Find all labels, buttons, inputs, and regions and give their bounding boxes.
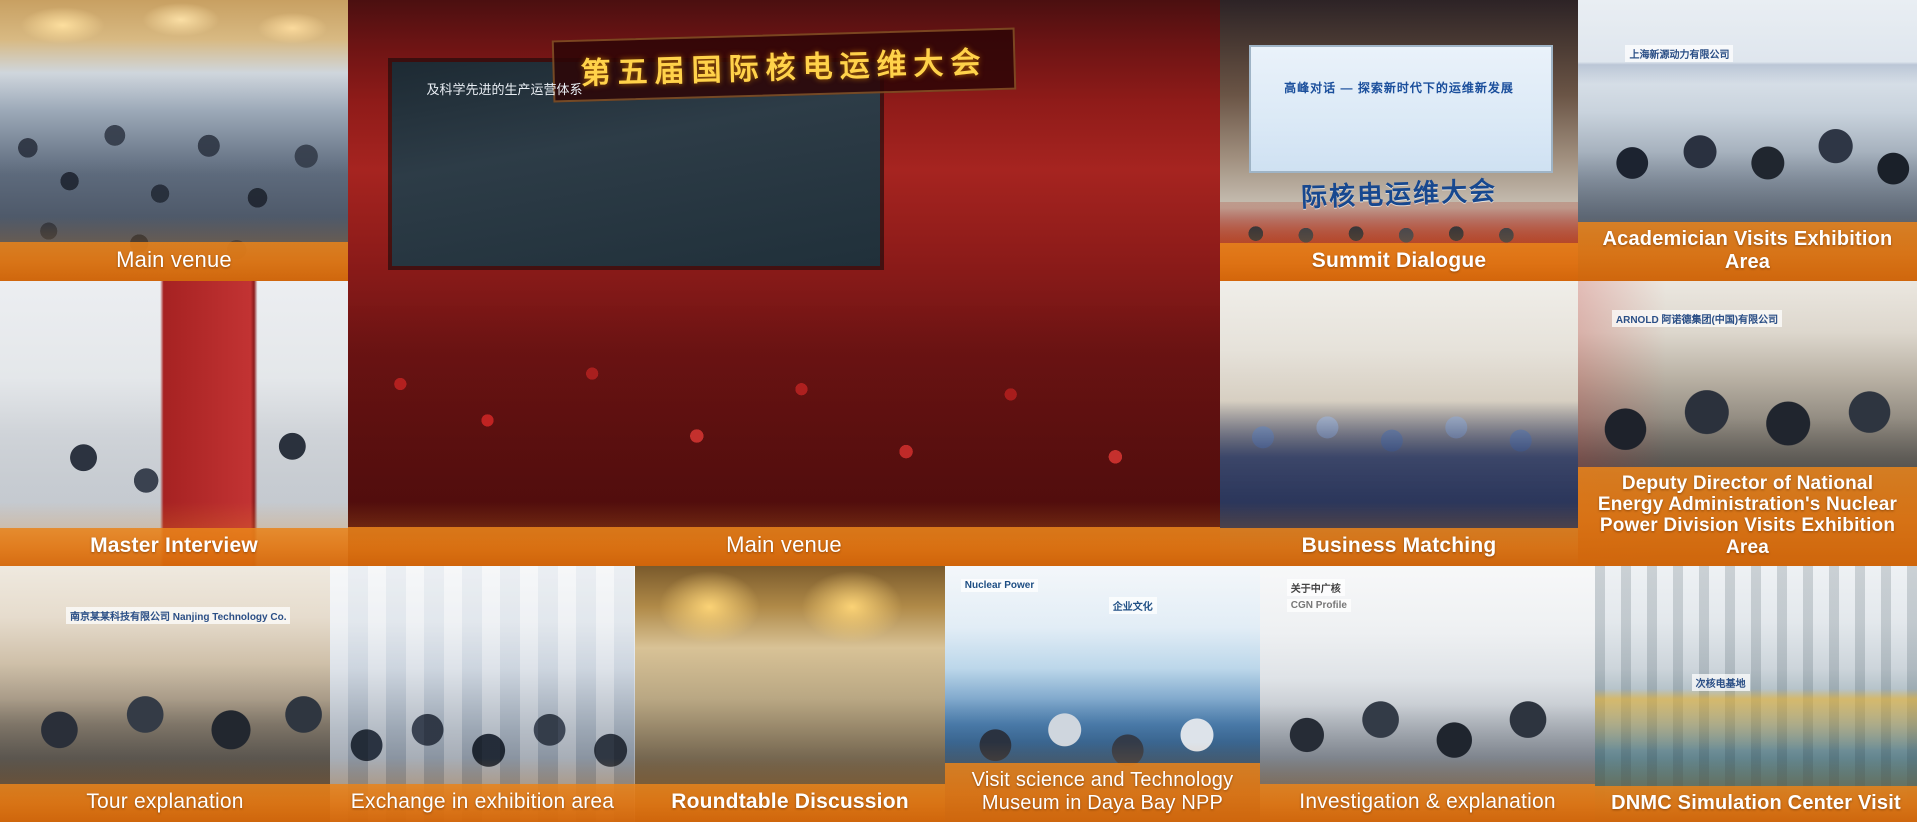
caption-academician-visits: Academician Visits Exhibition Area bbox=[1578, 222, 1917, 281]
slide-heading-text: 及科学先进的生产运营体系 bbox=[426, 79, 845, 101]
caption-tour-explanation: Tour explanation bbox=[0, 784, 330, 822]
caption-roundtable-discussion: Roundtable Discussion bbox=[635, 784, 945, 822]
caption-deputy-director-visits: Deputy Director of National Energy Admin… bbox=[1578, 467, 1917, 566]
caption-visit-science-museum: Visit science and Technology Museum in D… bbox=[945, 763, 1260, 822]
tile-visit-science-and-technology-museum[interactable]: Nuclear Power 企业文化 Visit science and Tec… bbox=[945, 566, 1260, 822]
tile-master-interview[interactable]: Master Interview bbox=[0, 281, 348, 566]
booth-sign-text: 南京某某科技有限公司 Nanjing Technology Co. bbox=[66, 607, 290, 624]
tile-deputy-director-visits[interactable]: ARNOLD 阿诺德集团(中国)有限公司 Deputy Director of … bbox=[1578, 281, 1917, 566]
caption-investigation-and-explanation: Investigation & explanation bbox=[1260, 784, 1595, 822]
tile-dnmc-simulation-center-visit[interactable]: 次核电基地 DNMC Simulation Center Visit bbox=[1595, 566, 1917, 822]
tile-roundtable-discussion[interactable]: Roundtable Discussion bbox=[635, 566, 945, 822]
panel-title-text: Nuclear Power bbox=[961, 579, 1038, 592]
caption-exchange-in-exhibition-area: Exchange in exhibition area bbox=[330, 784, 635, 822]
caption-dnmc-simulation-center: DNMC Simulation Center Visit bbox=[1595, 786, 1917, 822]
caption-business-matching: Business Matching bbox=[1220, 528, 1578, 566]
photo-business-matching bbox=[1220, 281, 1578, 566]
caption-main-venue-center: Main venue bbox=[348, 527, 1220, 566]
booth-sign-text: 上海新源动力有限公司 bbox=[1625, 45, 1733, 62]
summit-screen-title: 高峰对话 — 探索新时代下的运维新发展 bbox=[1284, 79, 1514, 96]
caption-master-interview: Master Interview bbox=[0, 528, 348, 566]
wall-sign-text: 次核电基地 bbox=[1692, 674, 1750, 691]
photo-summit-dialogue bbox=[1220, 0, 1578, 281]
panel-subtitle-text: 企业文化 bbox=[1109, 597, 1157, 614]
tile-business-matching[interactable]: Business Matching bbox=[1220, 281, 1578, 566]
tile-main-venue-top-left[interactable]: Main venue bbox=[0, 0, 348, 281]
tile-tour-explanation[interactable]: 南京某某科技有限公司 Nanjing Technology Co. Tour e… bbox=[0, 566, 330, 822]
photo-master-interview bbox=[0, 281, 348, 566]
photo-collage: Main venue 第五届国际核电运维大会 及科学先进的生产运营体系 Main… bbox=[0, 0, 1917, 822]
tile-summit-dialogue[interactable]: 高峰对话 — 探索新时代下的运维新发展 际核电运维大会 Summit Dialo… bbox=[1220, 0, 1578, 281]
photo-dnmc-simulation-center bbox=[1595, 566, 1917, 822]
booth-sign-text: ARNOLD 阿诺德集团(中国)有限公司 bbox=[1612, 310, 1782, 327]
tile-academician-visits-exhibition-area[interactable]: 上海新源动力有限公司 Academician Visits Exhibition… bbox=[1578, 0, 1917, 281]
caption-summit-dialogue: Summit Dialogue bbox=[1220, 243, 1578, 281]
panel-subtitle-text: CGN Profile bbox=[1287, 599, 1351, 612]
panel-title-text: 关于中广核 bbox=[1287, 579, 1345, 596]
tile-exchange-in-exhibition-area[interactable]: Exchange in exhibition area bbox=[330, 566, 635, 822]
photo-main-venue-top-left bbox=[0, 0, 348, 281]
tile-main-venue-center[interactable]: 第五届国际核电运维大会 及科学先进的生产运营体系 Main venue bbox=[348, 0, 1220, 566]
tile-investigation-and-explanation[interactable]: 关于中广核 CGN Profile Investigation & explan… bbox=[1260, 566, 1595, 822]
caption-main-venue-top-left: Main venue bbox=[0, 242, 348, 281]
stage-banner-text: 际核电运维大会 bbox=[1300, 171, 1497, 215]
